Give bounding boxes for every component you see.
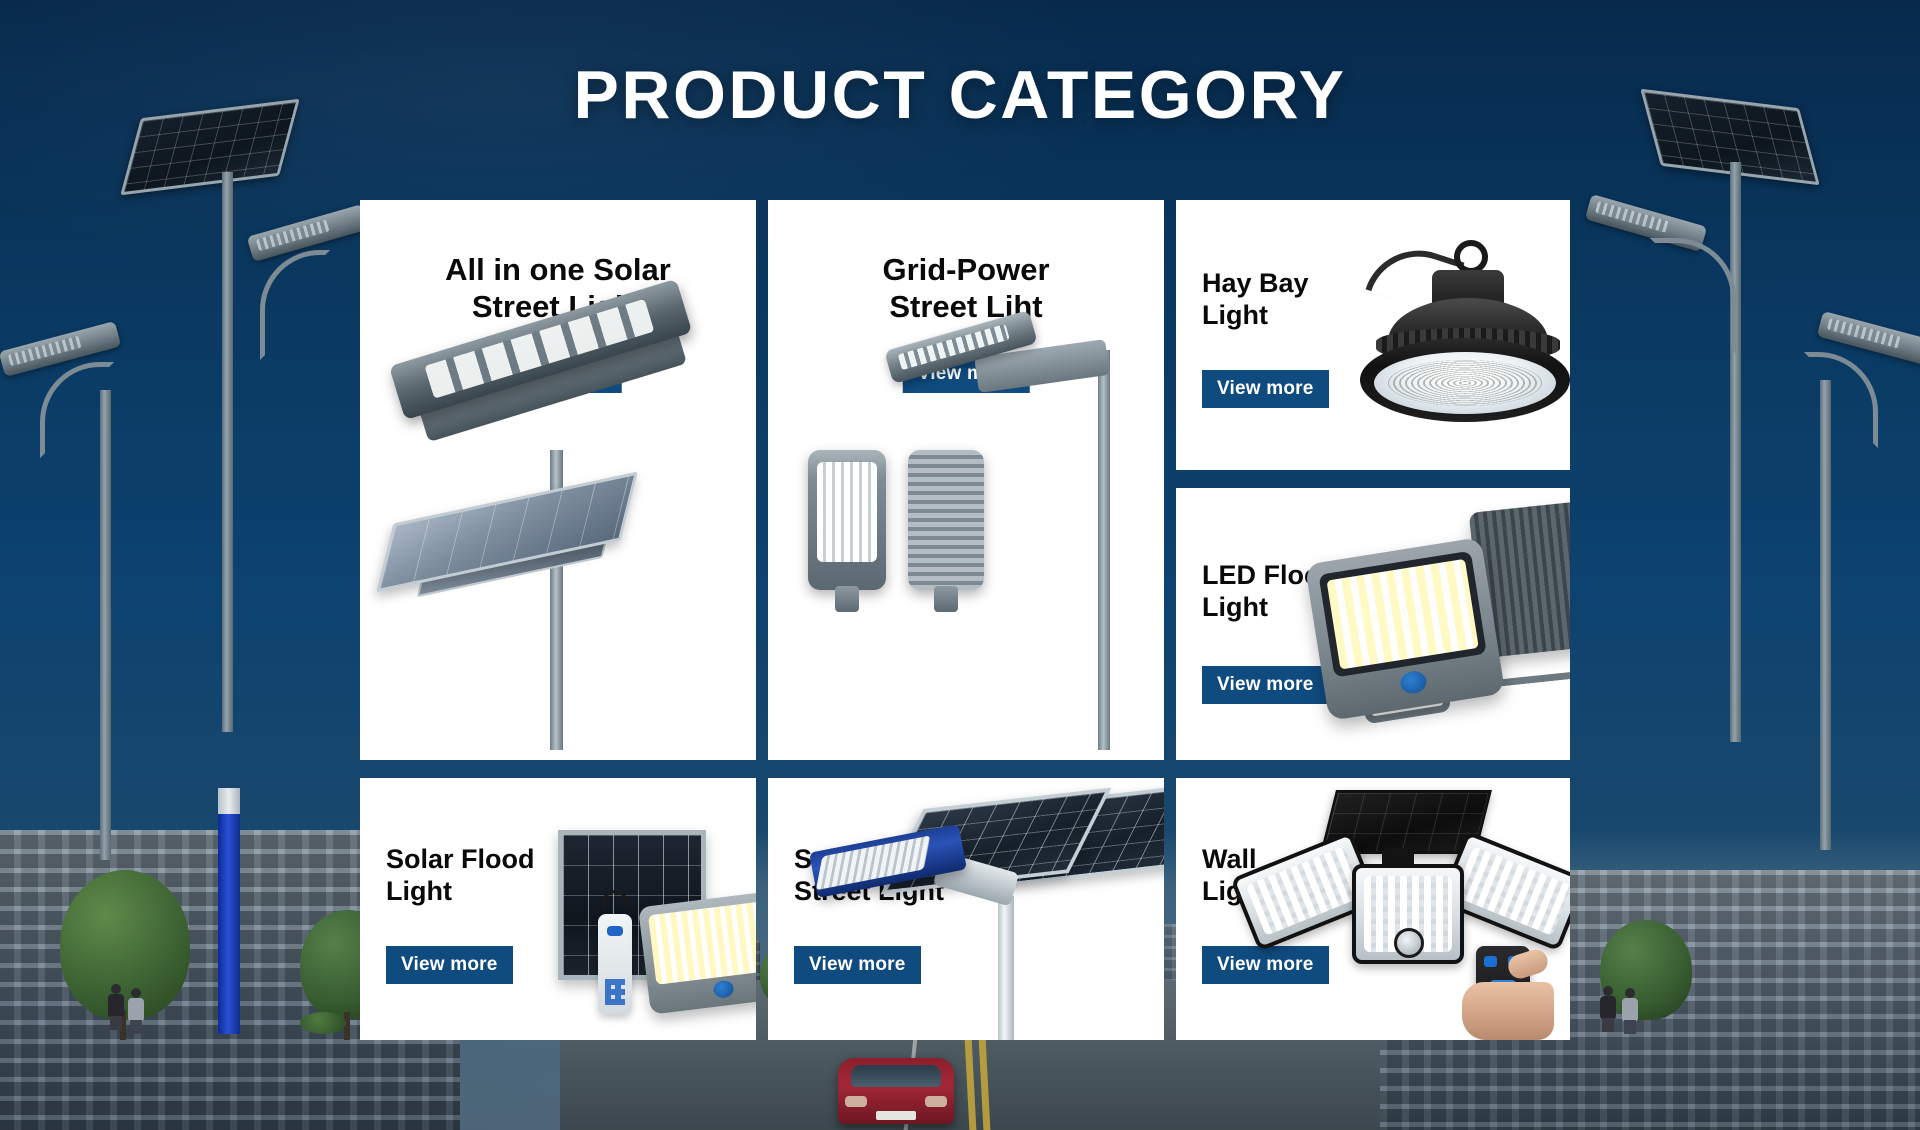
hand-holding-remote	[1462, 946, 1558, 1040]
hay-bay-light-image	[1354, 230, 1570, 426]
product-card-split-solar-street-light[interactable]: Split Solar Street Light View more	[768, 778, 1164, 1040]
product-card-all-in-one-solar-street-light[interactable]: All in one Solar Street Light View more	[360, 200, 756, 760]
card-title: Grid-Power Street Liht	[768, 252, 1164, 325]
product-category-grid: All in one Solar Street Light View more …	[360, 200, 1560, 1040]
card-title: Solar Flood Light	[386, 844, 535, 908]
view-more-button[interactable]: View more	[1202, 666, 1329, 704]
view-more-button[interactable]: View more	[1202, 946, 1329, 984]
page-title: PRODUCT CATEGORY	[0, 56, 1920, 134]
product-card-wall-light[interactable]: Wall Light View more	[1176, 778, 1570, 1040]
card-title: Hay Bay Light	[1202, 268, 1309, 332]
product-card-solar-flood-light[interactable]: Solar Flood Light View more	[360, 778, 756, 1040]
view-more-button[interactable]: View more	[386, 946, 513, 984]
product-card-hay-bay-light[interactable]: Hay Bay Light View more	[1176, 200, 1570, 470]
page-content: PRODUCT CATEGORY All in one Solar Street…	[0, 0, 1920, 1130]
product-card-led-flood-light[interactable]: LED Flood Light View more	[1176, 488, 1570, 760]
product-card-grid-power-street-light[interactable]: Grid-Power Street Liht View more	[768, 200, 1164, 760]
view-more-button[interactable]: View more	[794, 946, 921, 984]
view-more-button[interactable]: View more	[1202, 370, 1329, 408]
